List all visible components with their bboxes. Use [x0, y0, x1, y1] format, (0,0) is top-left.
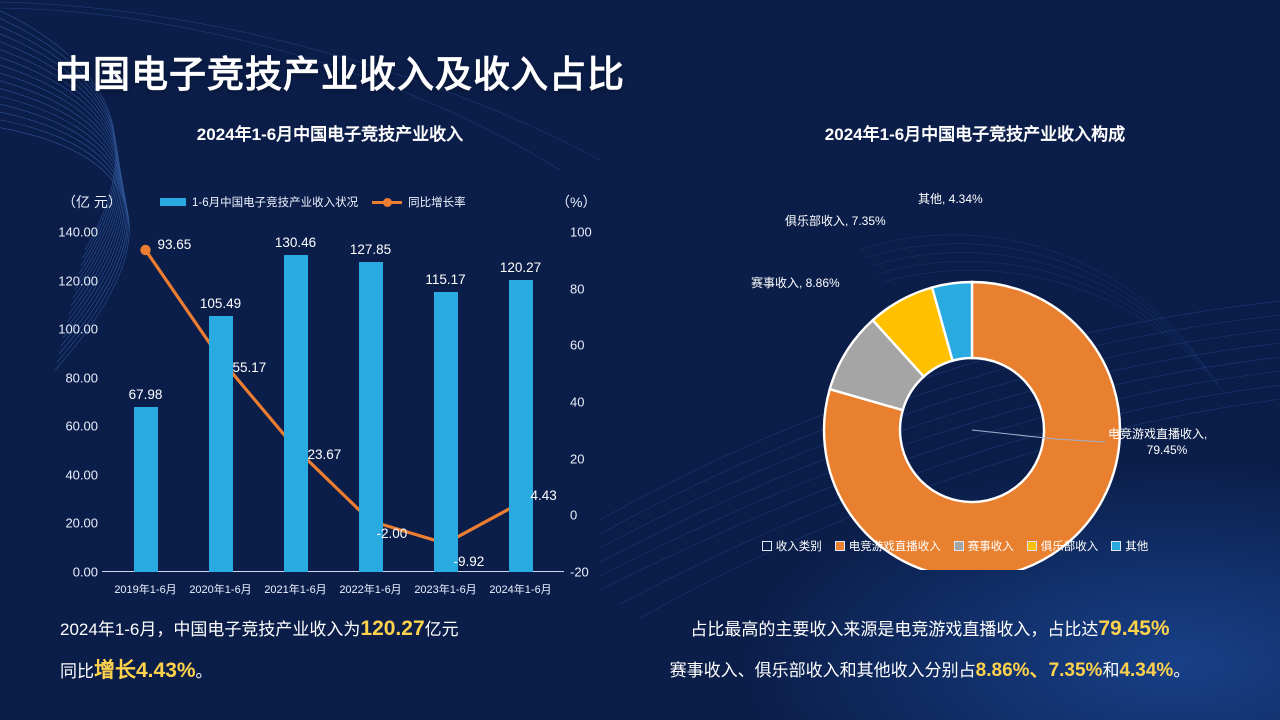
- line-value-label: 23.67: [308, 447, 342, 462]
- line-marker-icon: [372, 197, 402, 207]
- y2-axis-tick: 0: [570, 508, 577, 523]
- other-share-highlight: 4.34%: [1119, 660, 1173, 681]
- line-value-label: 93.65: [158, 237, 192, 252]
- donut-legend-label: 电竞游戏直播收入: [849, 538, 941, 554]
- donut-callout-other: 其他, 4.34%: [918, 191, 983, 207]
- donut-legend-label: 收入类别: [776, 538, 822, 554]
- legend-swatch-icon: [762, 541, 772, 551]
- donut-svg: [650, 150, 1280, 570]
- y2-axis-tick: -20: [570, 565, 589, 580]
- x-axis-label: 2023年1-6月: [414, 581, 476, 597]
- y2-axis-tick: 20: [570, 451, 584, 466]
- bar-value-label: 115.17: [425, 272, 465, 287]
- revenue-value-highlight: 120.27: [360, 617, 424, 640]
- event-share-highlight: 8.86%: [976, 660, 1030, 681]
- legend-item-revenue[interactable]: 1-6月中国电子竞技产业收入状况: [160, 194, 358, 210]
- y-axis-tick: 40.00: [65, 467, 98, 482]
- growth-value-highlight: 增长4.43%: [94, 659, 196, 682]
- club-share-highlight: 7.35%: [1049, 660, 1103, 681]
- bar[interactable]: [284, 255, 308, 572]
- bar[interactable]: [134, 407, 158, 572]
- y2-axis-tick: 100: [570, 225, 592, 240]
- left-chart-legend: 1-6月中国电子竞技产业收入状况 同比增长率: [160, 194, 466, 210]
- page-title: 中国电子竞技产业收入及收入占比: [55, 44, 625, 98]
- donut-legend-item[interactable]: 收入类别: [762, 538, 822, 554]
- y-axis-tick: 120.00: [58, 273, 98, 288]
- bar[interactable]: [509, 280, 533, 572]
- donut-legend-label: 赛事收入: [968, 538, 1014, 554]
- right-summary-line1: 占比最高的主要收入来源是电竞游戏直播收入，占比达79.45%: [600, 608, 1260, 650]
- legend-swatch-icon: [1027, 541, 1037, 551]
- right-summary-line2: 赛事收入、俱乐部收入和其他收入分别占8.86%、7.35%和4.34%。: [600, 650, 1260, 691]
- donut-legend-item[interactable]: 赛事收入: [954, 538, 1014, 554]
- donut-legend-item[interactable]: 电竞游戏直播收入: [835, 538, 941, 554]
- donut-callout-live-line2: 79.45%: [1108, 442, 1226, 458]
- left-summary-line2: 同比增长4.43%。: [60, 650, 580, 692]
- x-axis-label: 2024年1-6月: [489, 581, 551, 597]
- x-axis-label: 2020年1-6月: [189, 581, 251, 597]
- line-value-label: -9.92: [454, 554, 485, 569]
- bar[interactable]: [209, 316, 233, 572]
- bar-swatch-icon: [160, 198, 186, 206]
- y-axis-tick: 0.00: [73, 565, 98, 580]
- live-share-highlight: 79.45%: [1098, 617, 1169, 640]
- donut-legend-label: 其他: [1125, 538, 1148, 554]
- y-axis-tick: 20.00: [65, 516, 98, 531]
- right-axis-unit: （%）: [556, 192, 596, 212]
- y2-axis-tick: 60: [570, 338, 584, 353]
- revenue-composition-donut-chart: 其他, 4.34% 俱乐部收入, 7.35% 赛事收入, 8.86% 电竞游戏直…: [650, 150, 1280, 570]
- legend-label-growth: 同比增长率: [408, 194, 466, 210]
- donut-callout-live-line1: 电竞游戏直播收入,: [1108, 426, 1258, 442]
- line-value-label: 4.43: [531, 488, 557, 503]
- bar-value-label: 130.46: [275, 235, 316, 250]
- y-axis-tick: 100.00: [58, 322, 98, 337]
- y-axis-tick: 140.00: [58, 225, 98, 240]
- donut-legend-item[interactable]: 俱乐部收入: [1027, 538, 1099, 554]
- x-axis-label: 2019年1-6月: [114, 581, 176, 597]
- legend-swatch-icon: [1111, 541, 1121, 551]
- x-axis-label: 2022年1-6月: [339, 581, 401, 597]
- bar-value-label: 127.85: [350, 242, 391, 257]
- legend-swatch-icon: [835, 541, 845, 551]
- left-summary-text: 2024年1-6月，中国电子竞技产业收入为120.27亿元 同比增长4.43%。: [60, 608, 580, 692]
- left-axis-unit: （亿 元）: [62, 192, 122, 212]
- donut-callout-club: 俱乐部收入, 7.35%: [785, 213, 886, 229]
- bar[interactable]: [434, 292, 458, 572]
- growth-rate-line: [108, 232, 558, 572]
- legend-label-revenue: 1-6月中国电子竞技产业收入状况: [192, 194, 358, 210]
- left-summary-line1: 2024年1-6月，中国电子竞技产业收入为120.27亿元: [60, 608, 580, 650]
- right-summary-text: 占比最高的主要收入来源是电竞游戏直播收入，占比达79.45% 赛事收入、俱乐部收…: [600, 608, 1260, 691]
- bar-value-label: 105.49: [200, 296, 241, 311]
- right-chart-title: 2024年1-6月中国电子竞技产业收入构成: [740, 120, 1210, 145]
- legend-item-growth[interactable]: 同比增长率: [372, 194, 466, 210]
- y-axis-tick: 80.00: [65, 370, 98, 385]
- plot-area: 0.0020.0040.0060.0080.00100.00120.00140.…: [108, 232, 558, 572]
- line-value-label: 55.17: [233, 360, 267, 375]
- y2-axis-tick: 40: [570, 395, 584, 410]
- donut-legend-label: 俱乐部收入: [1041, 538, 1099, 554]
- donut-legend: 收入类别电竞游戏直播收入赛事收入俱乐部收入其他: [740, 538, 1170, 554]
- left-chart-title: 2024年1-6月中国电子竞技产业收入: [80, 120, 580, 145]
- donut-legend-item[interactable]: 其他: [1111, 538, 1148, 554]
- y-axis-tick: 60.00: [65, 419, 98, 434]
- legend-swatch-icon: [954, 541, 964, 551]
- y2-axis-tick: 80: [570, 281, 584, 296]
- donut-callout-live: 电竞游戏直播收入, 79.45%: [1108, 426, 1258, 458]
- bar-value-label: 120.27: [500, 260, 541, 275]
- x-axis-label: 2021年1-6月: [264, 581, 326, 597]
- line-point[interactable]: [140, 245, 150, 255]
- bar-value-label: 67.98: [129, 387, 163, 402]
- donut-callout-event: 赛事收入, 8.86%: [751, 275, 840, 291]
- revenue-bar-line-chart: （亿 元） （%） 1-6月中国电子竞技产业收入状况 同比增长率 0.0020.…: [0, 170, 620, 600]
- line-value-label: -2.00: [377, 526, 408, 541]
